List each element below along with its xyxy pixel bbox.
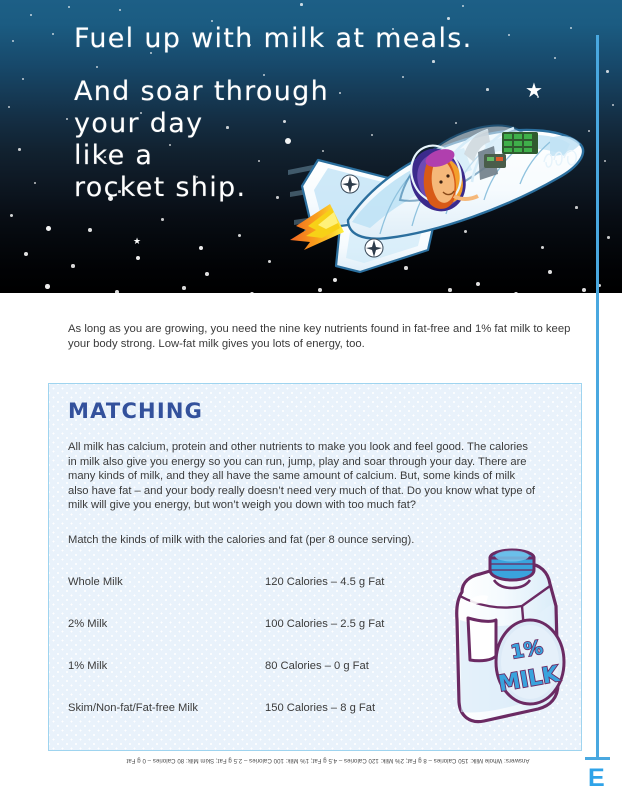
matching-heading: MATCHING (68, 399, 203, 423)
star-dot (136, 256, 140, 260)
headline-secondary: And soar through your day like a rocket … (74, 76, 544, 204)
side-rule-tick (585, 757, 610, 760)
headline-primary: Fuel up with milk at meals. (74, 22, 544, 56)
answer-key-text: Answers: Whole Milk: 150 Calories – 8 g … (78, 756, 578, 765)
star-dot (514, 292, 518, 293)
star-dot (612, 104, 614, 106)
star-dot (66, 118, 68, 120)
worksheet-page: ★★ (0, 0, 622, 804)
star-dot (333, 278, 337, 282)
star-dot (8, 106, 10, 108)
star-dot (606, 70, 609, 73)
star-dot (238, 234, 241, 237)
milk-type-label: 1% Milk (68, 660, 107, 672)
nutrition-label: 100 Calories – 2.5 g Fat (265, 618, 384, 630)
nutrition-label: 80 Calories – 0 g Fat (265, 660, 369, 672)
sparkle-star-icon: ★ (133, 238, 141, 247)
star-dot (604, 160, 606, 162)
star-dot (268, 260, 271, 263)
star-dot (199, 246, 203, 250)
star-dot (182, 286, 186, 290)
star-dot (161, 218, 164, 221)
matching-row[interactable]: 1% Milk 80 Calories – 0 g Fat (68, 660, 468, 702)
star-dot (448, 288, 452, 292)
star-dot (554, 57, 556, 59)
star-dot (250, 292, 254, 293)
star-dot (300, 3, 303, 6)
star-dot (52, 33, 54, 35)
star-dot (45, 284, 50, 289)
star-dot (582, 288, 586, 292)
star-dot (588, 130, 590, 132)
matching-row[interactable]: 2% Milk 100 Calories – 2.5 g Fat (68, 618, 468, 660)
star-dot (34, 182, 36, 184)
side-rule-line (596, 35, 599, 757)
milk-type-label: 2% Milk (68, 618, 107, 630)
matching-row[interactable]: Whole Milk 120 Calories – 4.5 g Fat (68, 576, 468, 618)
matching-list: Whole Milk 120 Calories – 4.5 g Fat 2% M… (68, 576, 468, 744)
star-dot (607, 236, 610, 239)
star-dot (71, 264, 75, 268)
nutrition-label: 120 Calories – 4.5 g Fat (265, 576, 384, 588)
star-dot (46, 226, 51, 231)
matching-activity-panel: MATCHING All milk has calcium, protein a… (48, 383, 582, 751)
star-dot (476, 282, 480, 286)
star-dot (24, 252, 28, 256)
star-dot (30, 14, 32, 16)
matching-row[interactable]: Skim/Non-fat/Fat-free Milk 150 Calories … (68, 702, 468, 744)
star-dot (318, 288, 322, 292)
star-dot (462, 5, 464, 7)
milk-jug-illustration: 1% MILK (444, 534, 582, 734)
nutrition-label: 150 Calories – 8 g Fat (265, 702, 375, 714)
star-dot (205, 272, 209, 276)
star-dot (570, 27, 572, 29)
hero-banner: ★★ (0, 0, 622, 293)
milk-type-label: Skim/Non-fat/Fat-free Milk (68, 702, 198, 714)
star-dot (447, 17, 450, 20)
hero-title-group: Fuel up with milk at meals. And soar thr… (74, 22, 544, 204)
star-dot (18, 148, 21, 151)
star-dot (12, 40, 14, 42)
intro-paragraph: As long as you are growing, you need the… (68, 322, 580, 351)
star-dot (115, 290, 119, 293)
star-dot (88, 228, 92, 232)
milk-type-label: Whole Milk (68, 576, 123, 588)
star-dot (22, 78, 24, 80)
star-dot (119, 9, 121, 11)
star-dot (10, 214, 13, 217)
star-dot (68, 6, 70, 8)
matching-description: All milk has calcium, protein and other … (68, 440, 538, 513)
page-letter-badge: E (588, 766, 605, 791)
